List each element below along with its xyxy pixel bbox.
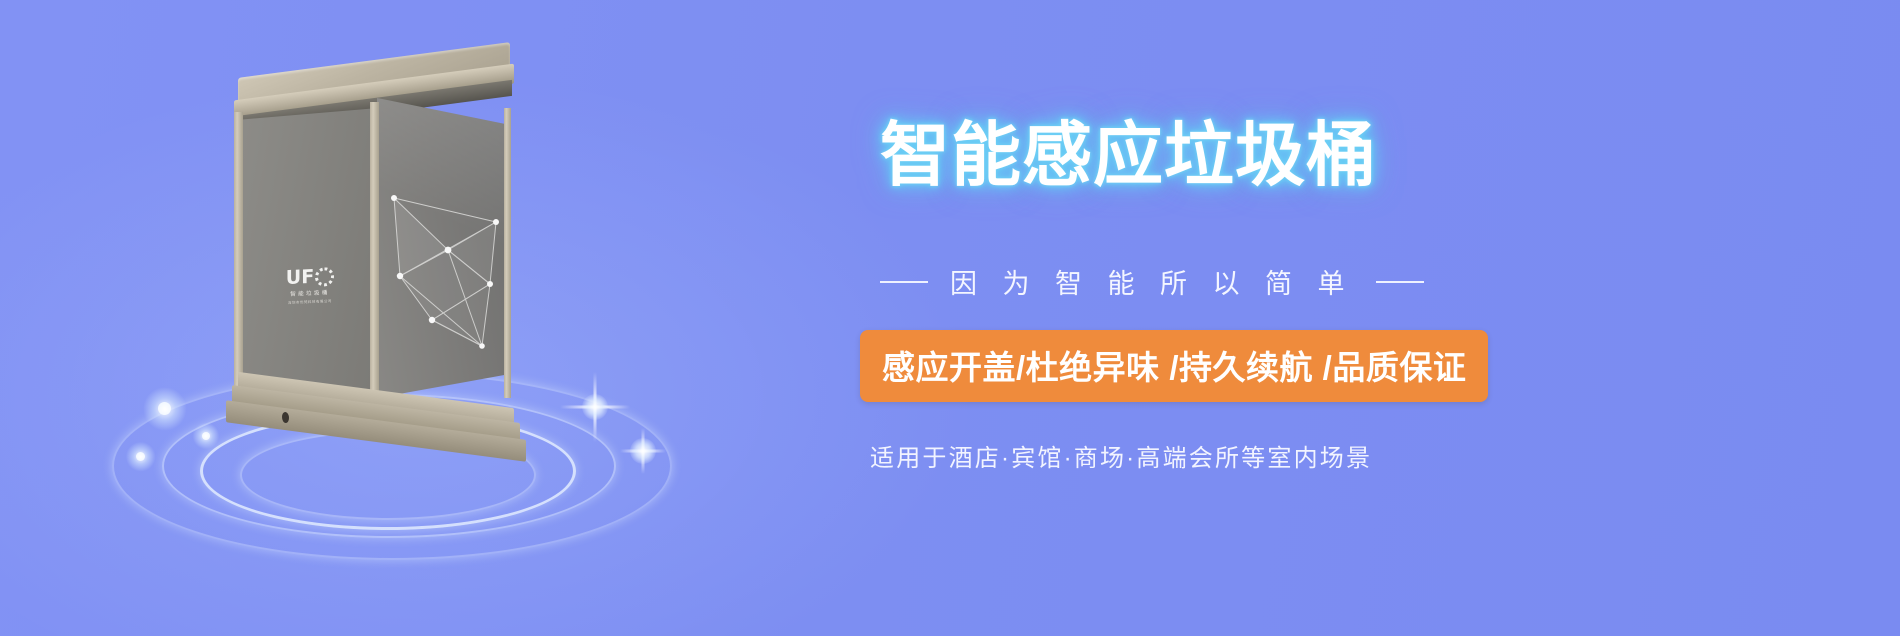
banner-title: 智能感应垃圾桶 <box>880 120 1720 190</box>
ufo-ring-icon <box>315 267 334 287</box>
logo-wordmark: UF <box>286 268 314 288</box>
product-logo: UF 智能垃圾桶 深圳市优梵科技有限公司 <box>264 266 356 328</box>
sparkle-icon <box>158 402 171 415</box>
polygon-network-graphic <box>386 180 506 360</box>
banner-caption: 适用于酒店·宾馆·商场·高端会所等室内场景 <box>870 438 1372 473</box>
rule-left-icon <box>880 281 928 283</box>
feature-badge: 感应开盖/杜绝异味 /持久续航 /品质保证 <box>860 330 1488 402</box>
starburst-icon <box>620 428 666 474</box>
banner-subtitle: 因 为 智 能 所 以 简 单 <box>880 262 1720 301</box>
product-visual: UF 智能垃圾桶 深圳市优梵科技有限公司 <box>90 30 710 550</box>
bin-edge-post <box>234 112 243 404</box>
rule-right-icon <box>1376 281 1424 283</box>
bin-face-left <box>238 108 378 404</box>
trash-bin-body: UF 智能垃圾桶 深圳市优梵科技有限公司 <box>220 30 540 450</box>
sparkle-icon <box>202 432 210 440</box>
bin-edge-post <box>504 108 511 398</box>
bin-base-pedestal <box>226 390 526 462</box>
bin-edge-post <box>370 102 379 402</box>
sparkle-icon <box>136 452 145 461</box>
promo-banner: UF 智能垃圾桶 深圳市优梵科技有限公司 智能感应垃圾桶 因 为 智 能 所 以… <box>0 0 1900 636</box>
sensor-icon <box>282 412 289 424</box>
banner-subtitle-text: 因 为 智 能 所 以 简 单 <box>950 262 1354 301</box>
logo-mark: UF <box>264 266 356 289</box>
banner-copy: 智能感应垃圾桶 因 为 智 能 所 以 简 单 感应开盖/杜绝异味 /持久续航 … <box>880 0 1840 636</box>
